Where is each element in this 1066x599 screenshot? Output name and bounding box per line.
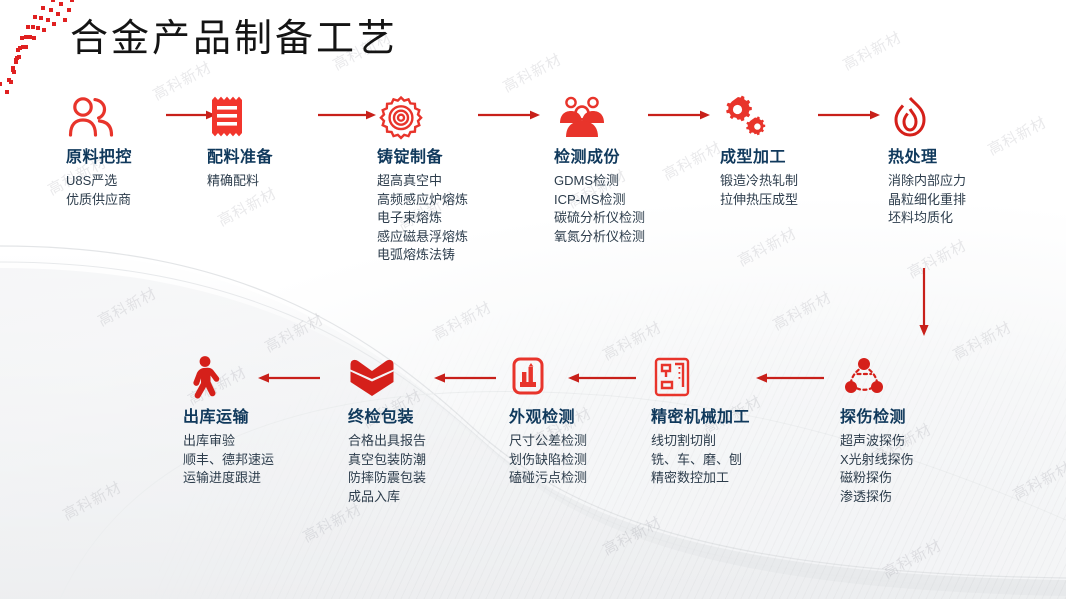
flow-node-composition-testing[interactable]: 检测成份 GDMS检测 ICP-MS检测 碳硫分析仪检测 氧氮分析仪检测 <box>554 95 645 246</box>
slide-canvas: 高科新材 高科新材 高科新材 高科新材 高科新材 高科新材 高科新材 高科新材 … <box>0 0 1066 599</box>
flow-node-item: 优质供应商 <box>66 191 132 210</box>
flow-node-item: 超高真空中 <box>377 172 468 191</box>
flow-node-title: 铸锭制备 <box>377 143 468 167</box>
flow-node-item: 渗透探伤 <box>840 488 914 507</box>
flow-node-precision-machining[interactable]: 精密机械加工 线切割切削 铣、车、磨、刨 精密数控加工 <box>651 355 750 488</box>
flow-node-item: 线切割切削 <box>651 432 750 451</box>
flow-node-title: 配料准备 <box>207 143 273 167</box>
flow-node-item: X光射线探伤 <box>840 451 914 470</box>
flow-node-item: 运输进度跟进 <box>183 469 274 488</box>
flow-node-raw-material-control[interactable]: 原料把控 U8S严选 优质供应商 <box>66 95 132 209</box>
flow-node-flaw-detection[interactable]: 探伤检测 超声波探伤 X光射线探伤 磁粉探伤 渗透探伤 <box>840 355 914 506</box>
flow-node-item: 出库审验 <box>183 432 274 451</box>
flow-node-item: 电弧熔炼法铸 <box>377 246 468 265</box>
flow-node-item: GDMS检测 <box>554 172 645 191</box>
flow-node-heat-treatment[interactable]: 热处理 消除内部应力 晶粒细化重排 坯料均质化 <box>888 95 966 228</box>
flow-node-items: U8S严选 优质供应商 <box>66 172 132 209</box>
flow-node-item: 顺丰、德邦速运 <box>183 451 274 470</box>
flow-node-item: 磁粉探伤 <box>840 469 914 488</box>
flow-node-title: 终检包装 <box>348 403 426 427</box>
flow-node-title: 精密机械加工 <box>651 403 750 427</box>
flow-node-title: 检测成份 <box>554 143 645 167</box>
flow-node-items: 尺寸公差检测 划伤缺陷检测 磕碰污点检测 <box>509 432 587 488</box>
gear-target-icon <box>377 95 425 141</box>
flow-node-item: ICP-MS检测 <box>554 191 645 210</box>
flow-node-forming-processing[interactable]: 成型加工 锻造冷热轧制 拉伸热压成型 <box>720 95 798 209</box>
open-box-icon <box>348 355 396 401</box>
flow-node-item: 感应磁悬浮熔炼 <box>377 228 468 247</box>
flow-node-item: 坯料均质化 <box>888 209 966 228</box>
flow-node-item: 防摔防震包装 <box>348 469 426 488</box>
flow-node-item: 氧氮分析仪检测 <box>554 228 645 247</box>
flow-node-item: 精密数控加工 <box>651 469 750 488</box>
flow-node-item: 消除内部应力 <box>888 172 966 191</box>
flow-node-appearance-inspection[interactable]: 外观检测 尺寸公差检测 划伤缺陷检测 磕碰污点检测 <box>509 355 587 488</box>
flow-node-title: 成型加工 <box>720 143 798 167</box>
flow-node-items: 超声波探伤 X光射线探伤 磁粉探伤 渗透探伤 <box>840 432 914 506</box>
flow-node-items: 锻造冷热轧制 拉伸热压成型 <box>720 172 798 209</box>
flow-arrow-left <box>756 371 824 385</box>
flow-node-items: GDMS检测 ICP-MS检测 碳硫分析仪检测 氧氮分析仪检测 <box>554 172 645 246</box>
flow-node-items: 出库审验 顺丰、德邦速运 运输进度跟进 <box>183 432 274 488</box>
flame-icon <box>888 95 932 141</box>
receipt-icon <box>207 95 247 141</box>
three-dots-triangle-icon <box>840 355 888 401</box>
background-hatch-texture <box>0 0 1066 599</box>
flow-node-outbound-transport[interactable]: 出库运输 出库审验 顺丰、德邦速运 运输进度跟进 <box>183 355 274 488</box>
flow-node-title: 外观检测 <box>509 403 587 427</box>
flow-node-ingot-preparation[interactable]: 铸锭制备 超高真空中 高频感应炉熔炼 电子束熔炼 感应磁悬浮熔炼 电弧熔炼法铸 <box>377 95 468 265</box>
flow-arrow-right <box>648 108 710 122</box>
flow-node-item: 成品入库 <box>348 488 426 507</box>
flow-arrow-right <box>318 108 376 122</box>
flow-node-item: 晶粒细化重排 <box>888 191 966 210</box>
flow-arrow-right <box>818 108 880 122</box>
flow-node-item: 磕碰污点检测 <box>509 469 587 488</box>
flow-node-item: 锻造冷热轧制 <box>720 172 798 191</box>
flow-node-items: 合格出具报告 真空包装防潮 防摔防震包装 成品入库 <box>348 432 426 506</box>
flow-node-item: 拉伸热压成型 <box>720 191 798 210</box>
flow-node-item: 尺寸公差检测 <box>509 432 587 451</box>
flow-node-item: 超声波探伤 <box>840 432 914 451</box>
walking-person-icon <box>183 355 225 401</box>
flow-node-batching-preparation[interactable]: 配料准备 精确配料 <box>207 95 273 191</box>
flow-node-item: 真空包装防潮 <box>348 451 426 470</box>
two-people-icon <box>66 95 118 141</box>
flow-node-items: 线切割切削 铣、车、磨、刨 精密数控加工 <box>651 432 750 488</box>
flow-node-item: U8S严选 <box>66 172 132 191</box>
flow-node-item: 合格出具报告 <box>348 432 426 451</box>
flow-node-title: 热处理 <box>888 143 966 167</box>
flow-node-items: 超高真空中 高频感应炉熔炼 电子束熔炼 感应磁悬浮熔炼 电弧熔炼法铸 <box>377 172 468 265</box>
flow-node-item: 铣、车、磨、刨 <box>651 451 750 470</box>
page-title: 合金产品制备工艺 <box>70 7 398 62</box>
flow-node-final-inspection-packaging[interactable]: 终检包装 合格出具报告 真空包装防潮 防摔防震包装 成品入库 <box>348 355 426 506</box>
inspection-square-icon <box>509 355 547 401</box>
flow-node-item: 碳硫分析仪检测 <box>554 209 645 228</box>
cnc-machine-icon <box>651 355 693 401</box>
flow-node-items: 精确配料 <box>207 172 273 191</box>
flow-node-title: 出库运输 <box>183 403 274 427</box>
flow-arrow-right <box>478 108 540 122</box>
flow-node-item: 高频感应炉熔炼 <box>377 191 468 210</box>
flow-node-items: 消除内部应力 晶粒细化重排 坯料均质化 <box>888 172 966 228</box>
flow-node-title: 探伤检测 <box>840 403 914 427</box>
flow-node-item: 精确配料 <box>207 172 273 191</box>
flow-node-item: 划伤缺陷检测 <box>509 451 587 470</box>
flow-arrow-down <box>917 268 931 336</box>
people-group-icon <box>554 95 610 141</box>
flow-arrow-left <box>434 371 496 385</box>
flow-node-title: 原料把控 <box>66 143 132 167</box>
two-gears-icon <box>720 95 768 141</box>
flow-node-item: 电子束熔炼 <box>377 209 468 228</box>
